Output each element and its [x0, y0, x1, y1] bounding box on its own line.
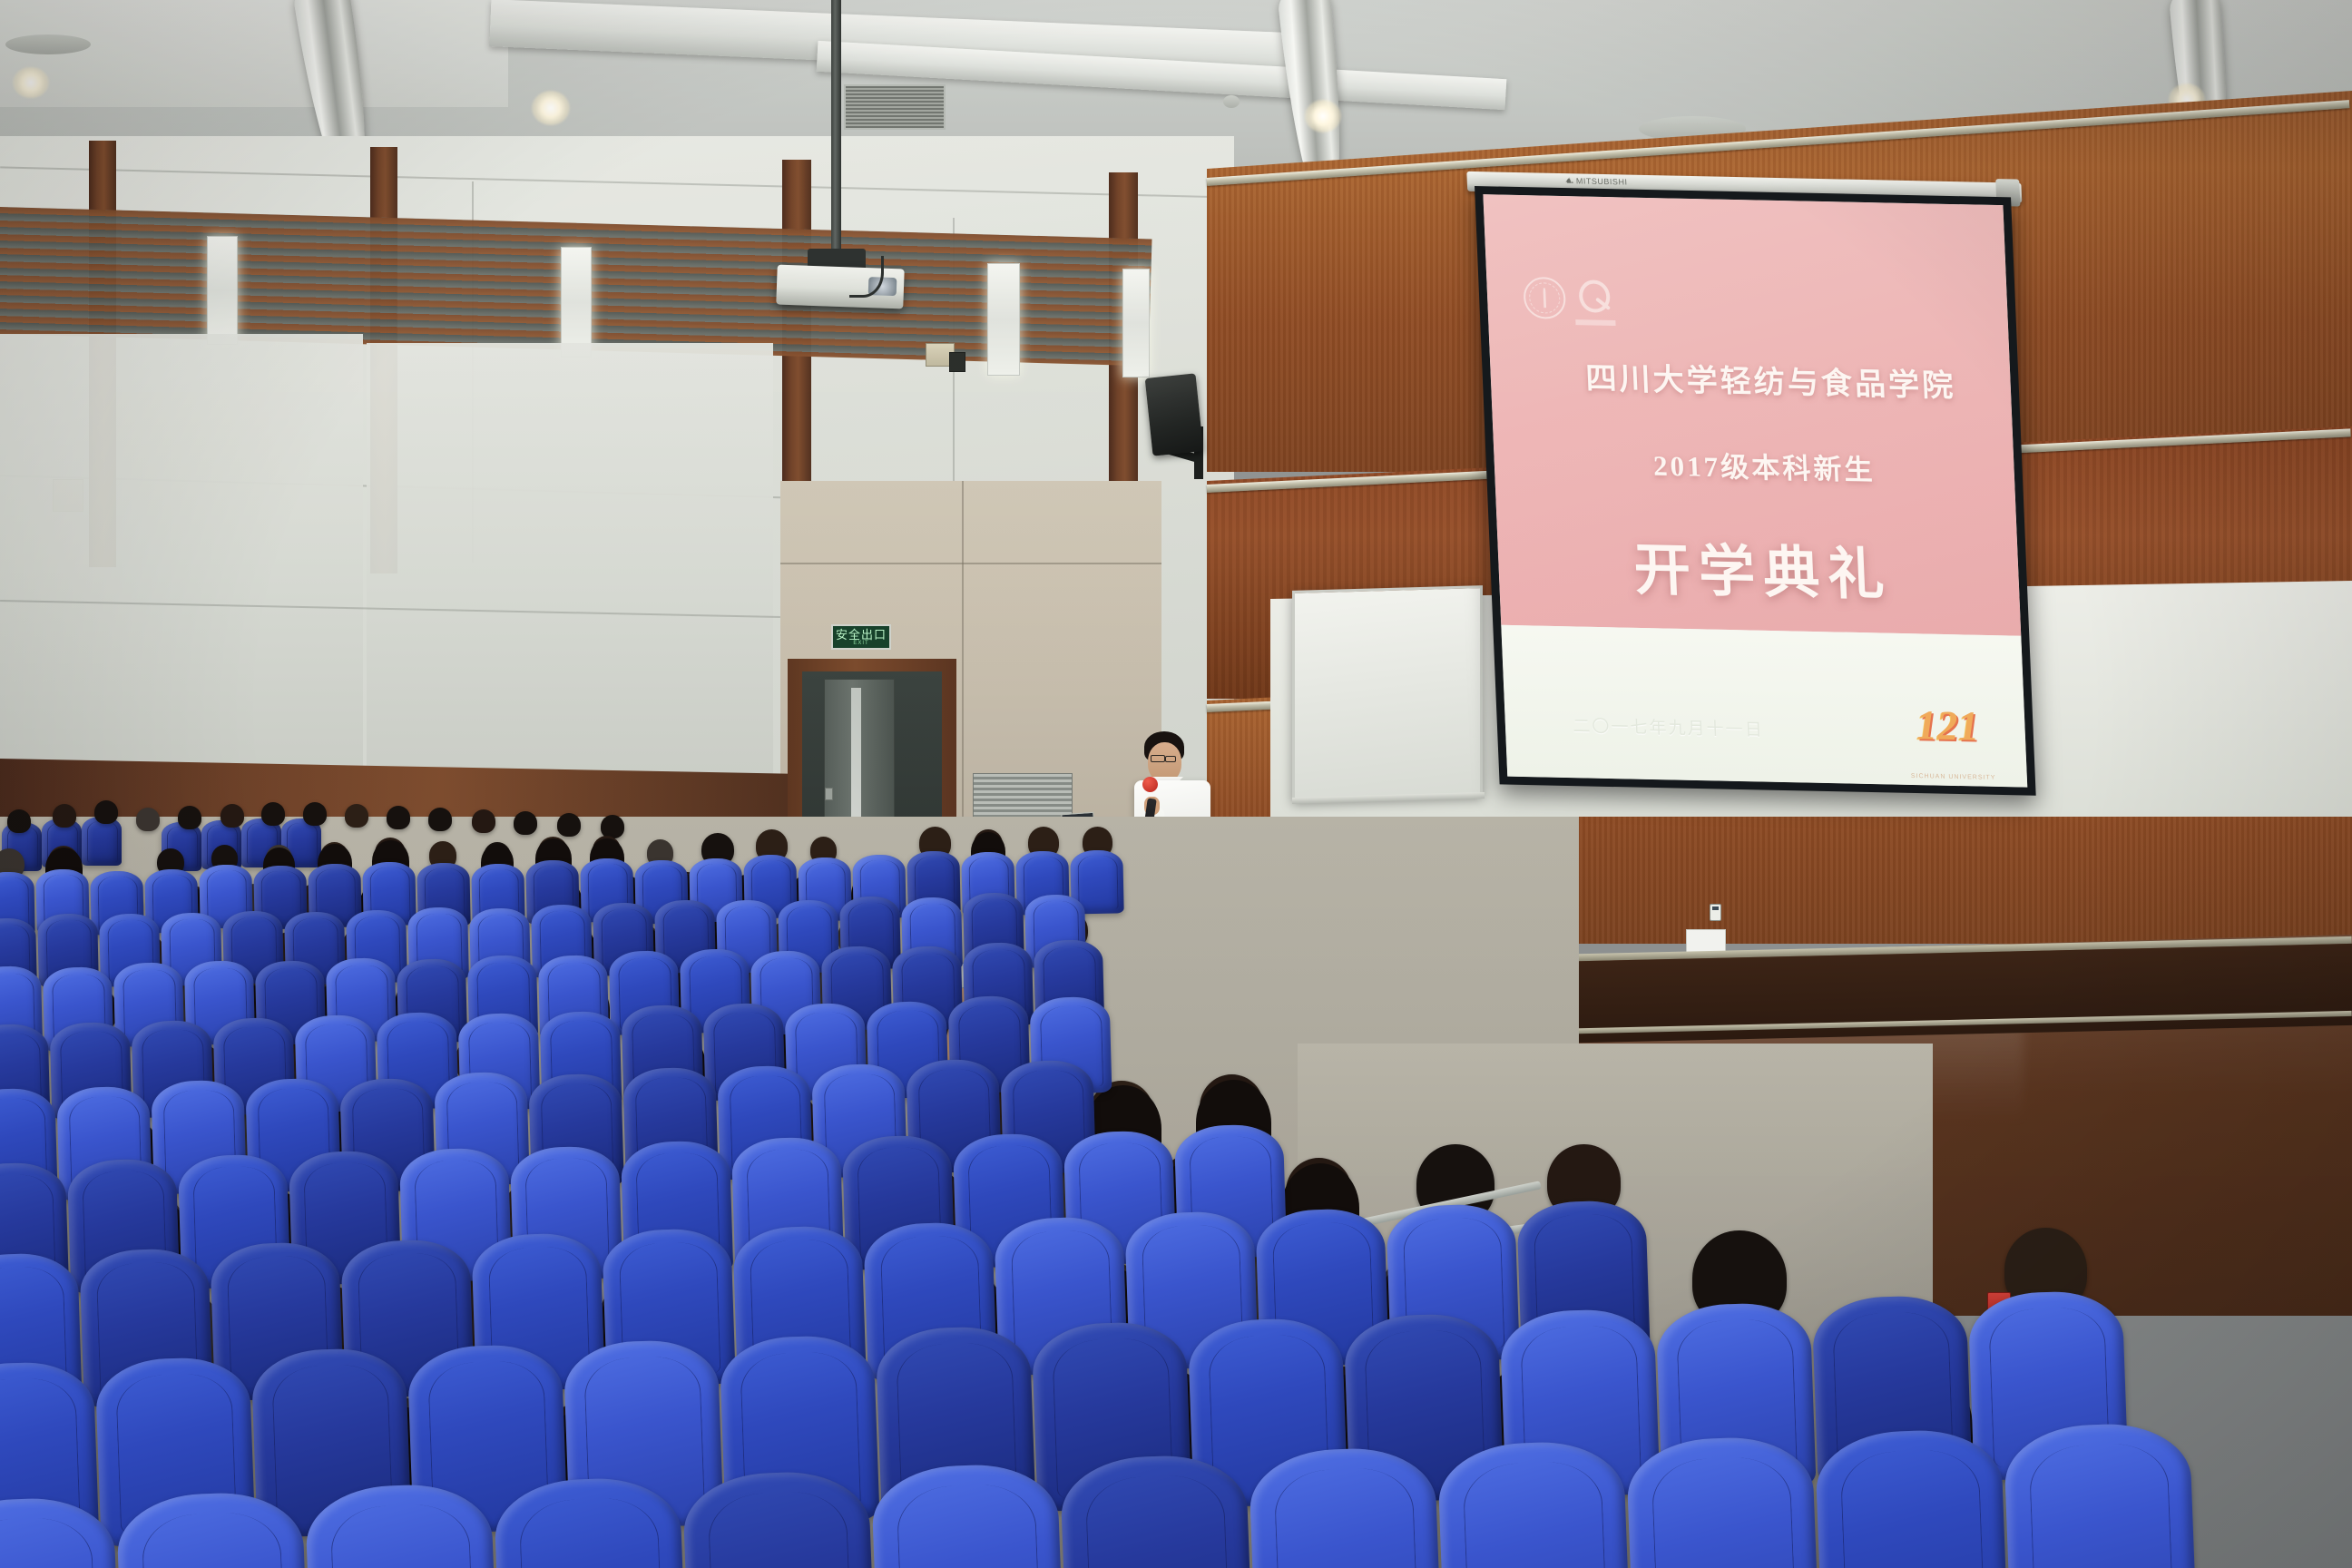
wall-lamp-1	[207, 236, 238, 345]
audience-head	[53, 804, 76, 828]
wall-lamp-3	[987, 263, 1020, 376]
wall-outlet-3[interactable]	[1710, 904, 1721, 921]
wall-lamp-2	[561, 247, 592, 358]
seat[interactable]	[1815, 1427, 2009, 1568]
door-handle[interactable]	[825, 788, 833, 800]
audience-head	[303, 802, 327, 826]
audience-head	[220, 804, 244, 828]
q-caption-bar	[1575, 319, 1615, 326]
seat[interactable]	[1626, 1435, 1820, 1568]
anniversary-mark: 121	[1916, 704, 1985, 769]
projector	[776, 265, 904, 309]
audience-head	[387, 806, 410, 829]
slide-date-line: 二〇一七年九月十一日	[1573, 712, 1765, 740]
mitsubishi-logo-icon	[1565, 177, 1573, 185]
ceiling-vent	[844, 84, 946, 130]
screen-brand-label: MITSUBISHI	[1576, 176, 1628, 186]
wall-panel-large-left	[0, 334, 363, 806]
ceiling-oval-fixture-2	[5, 34, 91, 54]
auditorium-photo: 安全出口 EXIT MITSUBISHI	[0, 0, 2352, 1568]
wall-sensor-box	[949, 352, 965, 372]
wall-panel-large-mid	[367, 343, 773, 815]
microphone-head	[1142, 777, 1158, 792]
audience-head	[472, 809, 495, 833]
seat[interactable]	[82, 817, 122, 866]
exit-sign-label-en: EXIT	[853, 641, 868, 646]
college-q-emblem-icon	[1573, 278, 1615, 326]
seat[interactable]	[2004, 1422, 2198, 1568]
audience-head	[428, 808, 452, 831]
ceiling-spotlight-1	[532, 91, 570, 125]
wall-lamp-4	[1122, 269, 1150, 377]
slide-event-title: 开学典礼	[1496, 520, 2020, 612]
ceiling-spotlight-5	[13, 67, 49, 98]
audience-head	[514, 811, 537, 835]
presenter-head	[1148, 742, 1181, 782]
presenter-glasses	[1151, 755, 1165, 762]
sichuan-university-seal-icon	[1523, 277, 1566, 319]
tile-seam-2	[962, 481, 964, 862]
screen-surface: 四川大学轻纺与食品学院 2017级本科新生 开学典礼 二〇一七年九月十一日 12…	[1483, 194, 2027, 787]
ceiling-slab-left	[0, 0, 508, 107]
presenter-glasses-2	[1165, 756, 1176, 762]
tile-seam-1	[780, 563, 1161, 564]
audience-head	[136, 808, 160, 831]
seat[interactable]	[1437, 1439, 1632, 1568]
screen-brand: MITSUBISHI	[1565, 176, 1628, 186]
exit-sign: 安全出口 EXIT	[831, 624, 891, 650]
audience-head	[345, 804, 368, 828]
ceiling-smoke-detector	[1223, 95, 1240, 108]
audience-head	[261, 802, 285, 826]
ceiling-spotlight-2	[1305, 100, 1341, 132]
exit-sign-label-cn: 安全出口	[836, 629, 887, 641]
wall-speaker	[1145, 373, 1204, 456]
audience-head	[94, 800, 118, 824]
projector-pole	[831, 0, 841, 272]
projection-screen: MITSUBISHI 四川大学轻纺与食品学院 2017级本科新生	[1475, 186, 2036, 796]
audience-head	[178, 806, 201, 829]
audience-head	[7, 809, 31, 833]
slide-logos	[1523, 277, 1615, 326]
audience-head	[557, 813, 581, 837]
seal-tower-glyph	[1542, 288, 1548, 308]
screen-border: 四川大学轻纺与食品学院 2017级本科新生 开学典礼 二〇一七年九月十一日 12…	[1475, 186, 2036, 796]
whiteboard	[1292, 585, 1483, 801]
